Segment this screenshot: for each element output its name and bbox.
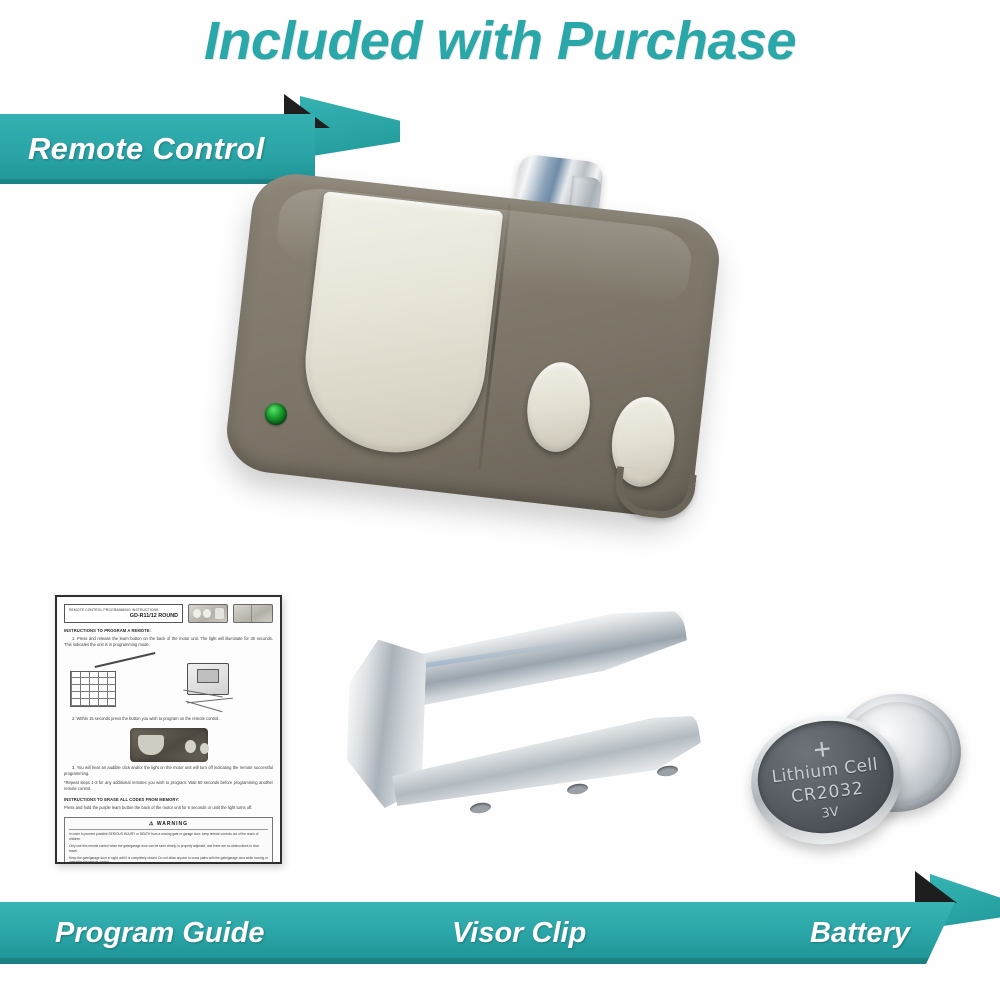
guide-remote-thumbnail-1: [188, 604, 228, 623]
visor-clip-lower-arm: [390, 711, 704, 813]
guide-section2-body: Press and hold the purple learn button t…: [64, 805, 273, 811]
warning-title: WARNING: [157, 821, 188, 827]
garage-door-illustration-icon: [64, 655, 165, 713]
guide-section2-heading: INSTRUCTIONS TO ERASE ALL CODES FROM MEM…: [64, 797, 273, 802]
warning-line-1: In order to prevent possible SERIOUS INJ…: [69, 832, 268, 842]
guide-figure-row: [64, 655, 273, 713]
guide-remote-photo: [130, 728, 208, 762]
guide-remote-thumbnail-2: [233, 604, 273, 623]
warning-triangle-icon: ⚠: [149, 821, 154, 827]
guide-step-3-note: *Repeat steps 1-3 for any additional rem…: [64, 780, 273, 792]
battery-face: + Lithium Cell CR2032 3V: [751, 713, 900, 841]
guide-section1-heading: INSTRUCTIONS TO PROGRAM A REMOTE:: [64, 628, 273, 633]
visor-clip-hole-1: [469, 801, 491, 814]
guide-header: REMOTE CONTROL PROGRAMMING INSTRUCTIONS …: [64, 604, 273, 623]
product-remote-control: [218, 150, 738, 600]
banner-label-visor-clip: Visor Clip: [452, 902, 586, 964]
remote-key-loop: [612, 466, 697, 522]
remote-device: [223, 169, 724, 520]
motor-unit-illustration-icon: [173, 655, 274, 713]
guide-header-line1: REMOTE CONTROL PROGRAMMING INSTRUCTIONS: [69, 608, 178, 612]
product-visor-clip: [330, 618, 730, 853]
banner-label-program-guide: Program Guide: [55, 902, 265, 964]
warning-line-2: Only use this remote control when the ga…: [69, 844, 268, 854]
banner-label-battery: Battery: [810, 902, 910, 964]
ribbon-banner-bottom: Program Guide Visor Clip Battery: [0, 860, 1000, 970]
battery-plus-icon: +: [813, 740, 833, 760]
visor-clip-hole-2: [566, 782, 588, 795]
product-battery: + Lithium Cell CR2032 3V: [745, 690, 960, 850]
cord-lines-icon: [183, 691, 253, 711]
guide-warning-box: ⚠ WARNING In order to prevent possible S…: [64, 817, 273, 864]
page-title: Included with Purchase: [0, 10, 1000, 72]
warning-header: ⚠ WARNING: [69, 821, 268, 830]
infographic-canvas: Included with Purchase Remote Control RE: [0, 0, 1000, 1000]
product-program-guide: REMOTE CONTROL PROGRAMMING INSTRUCTIONS …: [55, 595, 282, 864]
guide-step-3: 3. You will hear an audible click and/or…: [64, 765, 273, 777]
guide-title-box: REMOTE CONTROL PROGRAMMING INSTRUCTIONS …: [64, 604, 183, 623]
guide-step-1: 1. Press and release the learn button on…: [64, 636, 273, 648]
guide-header-line2: GD-R11/12 ROUND: [69, 613, 178, 619]
guide-step-2: 2. Within 15 seconds press the button yo…: [64, 716, 273, 722]
